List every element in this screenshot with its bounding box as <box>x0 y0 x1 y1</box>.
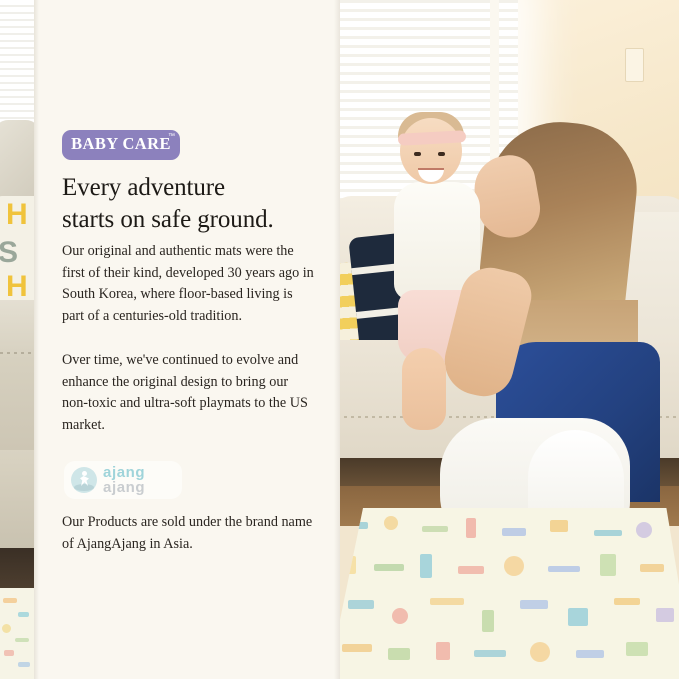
headline-line-2: starts on safe ground. <box>62 206 274 233</box>
text-panel <box>34 0 340 679</box>
ajang-ajang-mark-icon <box>71 467 97 493</box>
ad-creative: H S H BABY CARE ™ Every adventurestarts … <box>0 0 679 679</box>
lifestyle-photo <box>340 0 679 679</box>
figure-head-shape <box>82 471 87 476</box>
left-strip-pillow-letter-1: H <box>6 200 28 230</box>
headline-line-1: Every adventure <box>62 174 225 201</box>
ajang-word-top: ajang <box>103 465 145 480</box>
ajang-ajang-wordmark: ajang ajang <box>103 465 145 496</box>
page-title: Every adventurestarts on safe ground. <box>62 172 330 236</box>
left-strip-pillow-letter-3: H <box>6 272 28 302</box>
ajang-ajang-logo: ajang ajang <box>64 461 182 499</box>
trademark-symbol: ™ <box>168 133 175 140</box>
left-strip-pillow-letter-2: S <box>0 238 18 268</box>
left-strip-window-blind <box>0 0 34 128</box>
photo-baby-eye-left <box>414 152 421 156</box>
left-strip-stitching <box>0 352 34 354</box>
baby-care-logo-text: BABY CARE <box>71 136 171 153</box>
panel-left-edge-shadow <box>34 0 39 679</box>
photo-baby-leg <box>402 348 446 430</box>
figure-base-shape <box>74 484 94 491</box>
body-paragraph-1: Our original and authentic mats were the… <box>62 241 314 327</box>
photo-wall-outlet <box>625 48 644 82</box>
left-strip-couch-lower <box>0 450 34 548</box>
body-paragraph-3: Our Products are sold under the brand na… <box>62 512 314 555</box>
left-photo-strip: H S H <box>0 0 34 679</box>
photo-playmat <box>340 508 679 679</box>
left-strip-couch <box>0 300 34 450</box>
body-paragraph-2: Over time, we've continued to evolve and… <box>62 350 314 436</box>
left-strip-floor-shadow <box>0 548 34 588</box>
photo-baby-eye-right <box>438 152 445 156</box>
left-strip-playmat <box>0 588 34 679</box>
baby-care-logo: BABY CARE ™ <box>62 130 180 160</box>
ajang-word-bottom: ajang <box>103 480 145 495</box>
